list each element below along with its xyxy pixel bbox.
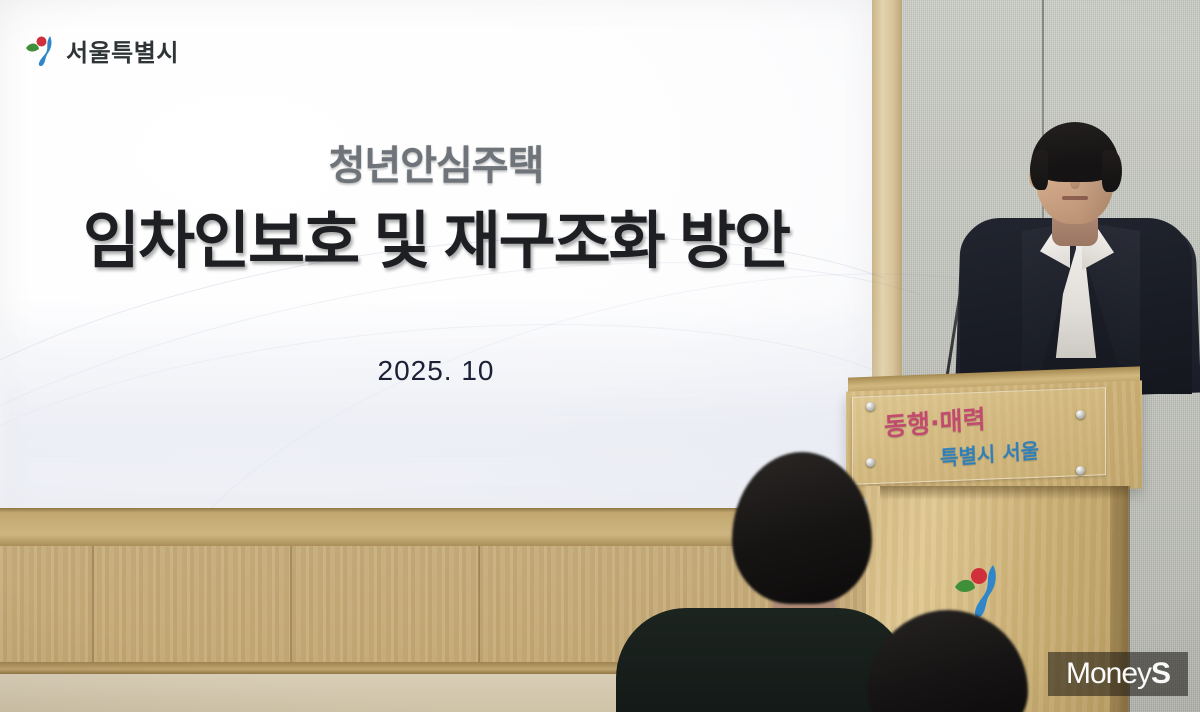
screenshot-root: 서울특별시 청년안심주택 임차인보호 및 재구조화 방안 2025. 10 [0, 0, 1200, 712]
wood-panel-seam [290, 546, 292, 666]
slide-haze [0, 300, 872, 512]
speaker-hair-left [1030, 150, 1048, 190]
watermark-text: MoneyS [1066, 657, 1170, 691]
speaker-hair-right [1102, 150, 1122, 192]
bolt-icon [1076, 466, 1085, 475]
bolt-icon [866, 402, 875, 411]
wood-panel-seam [92, 546, 94, 666]
slide-title: 임차인보호 및 재구조화 방안 [0, 190, 872, 280]
wood-panel-seam [478, 546, 480, 666]
slide-subtitle: 청년안심주택 [0, 133, 872, 191]
slide-date: 2025. 10 [0, 355, 872, 387]
audience-member-shoulders [616, 608, 908, 712]
seoul-emblem-icon [24, 32, 58, 68]
watermark-prefix: Money [1066, 657, 1151, 690]
bolt-icon [1076, 410, 1085, 419]
bolt-icon [866, 458, 875, 467]
brand-name-label: 서울특별시 [66, 33, 179, 68]
watermark-suffix: S [1151, 657, 1170, 690]
seoul-brand-lockup: 서울특별시 [24, 32, 179, 68]
podium-shadow [880, 486, 1128, 500]
projection-screen: 서울특별시 청년안심주택 임차인보호 및 재구조화 방안 2025. 10 [0, 0, 872, 512]
moneys-watermark: MoneyS [1048, 652, 1188, 696]
